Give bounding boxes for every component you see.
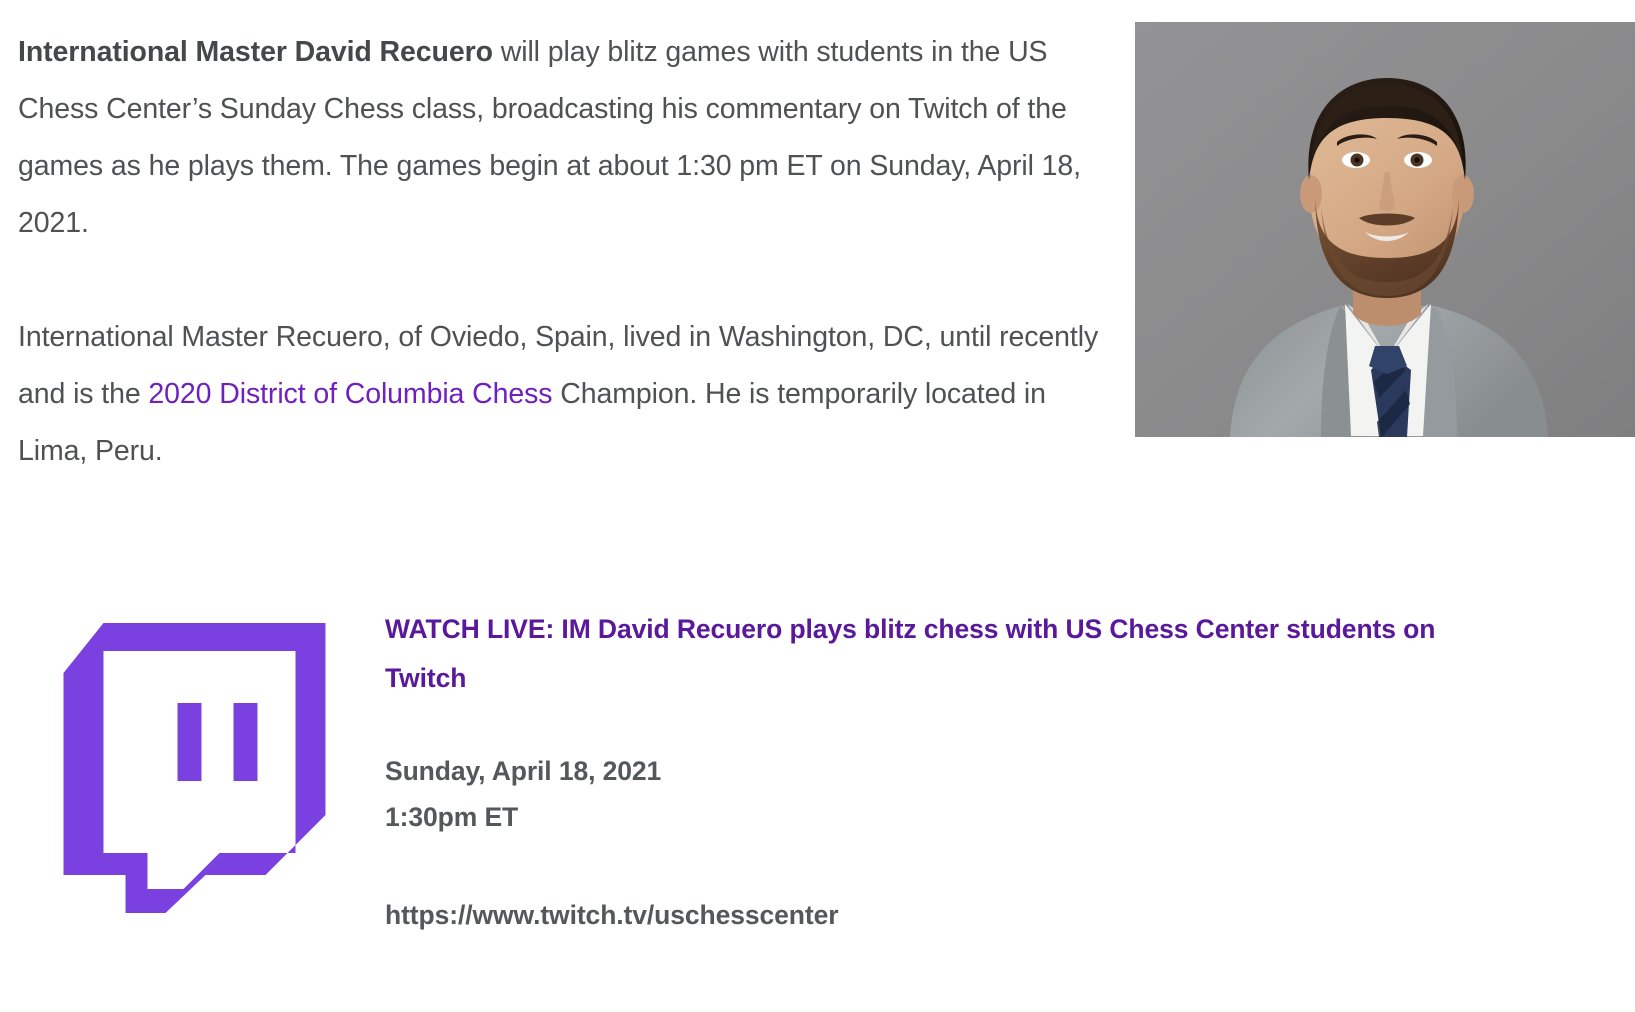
paragraph-announcement: International Master David Recuero will … <box>18 24 1108 252</box>
twitch-channel-url-link[interactable]: https://www.twitch.tv/uschesscenter <box>385 840 1520 938</box>
event-date: Sunday, April 18, 2021 <box>385 748 1520 794</box>
event-time: 1:30pm ET <box>385 794 1520 840</box>
dc-chess-champion-link[interactable]: 2020 District of Columbia Chess <box>148 378 552 410</box>
lead-bold-text: International Master David Recuero <box>18 36 493 68</box>
twitch-logo-icon <box>30 605 345 920</box>
paragraph-bio: International Master Recuero, of Oviedo,… <box>18 309 1108 480</box>
twitch-promo-block: WATCH LIVE: IM David Recuero plays blitz… <box>0 585 1635 1012</box>
promo-details: WATCH LIVE: IM David Recuero plays blitz… <box>385 605 1520 938</box>
event-datetime: Sunday, April 18, 2021 1:30pm ET <box>385 703 1520 840</box>
watch-live-title-link[interactable]: WATCH LIVE: IM David Recuero plays blitz… <box>385 605 1520 703</box>
headshot-photo <box>1135 22 1635 437</box>
article-body: International Master David Recuero will … <box>18 24 1108 480</box>
